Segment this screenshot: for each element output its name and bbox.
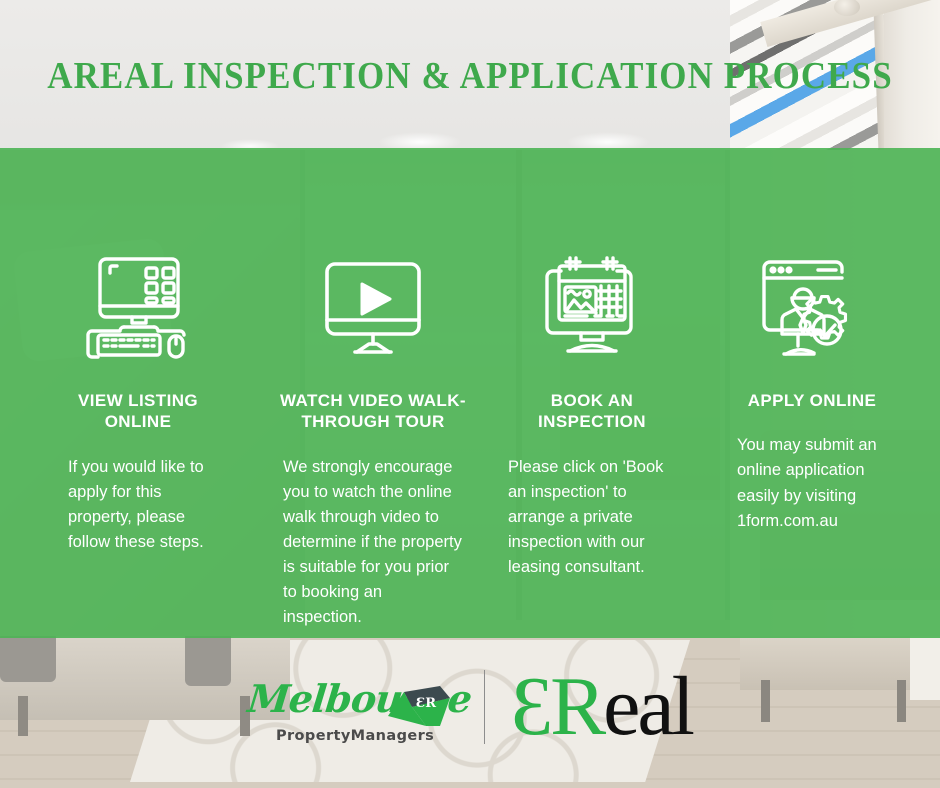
- step-body: Please click on 'Book an inspection' to …: [508, 455, 676, 580]
- roof-badge-text: ƐR: [416, 696, 436, 711]
- step-title: BOOK AN INSPECTION: [502, 390, 682, 433]
- areal-logo-black-part: eal: [603, 660, 692, 753]
- step-body: We strongly encourage you to watch the o…: [283, 455, 463, 631]
- roof-badge-icon: ƐR: [378, 682, 450, 730]
- step-body: You may submit an online application eas…: [737, 433, 887, 533]
- melbourne-property-managers-logo[interactable]: Melbourne ƐR PropertyManagers: [248, 662, 458, 752]
- process-steps-row: VIEW LISTING ONLINE If you would like to…: [0, 248, 940, 630]
- step-title: WATCH VIDEO WALK-THROUGH TOUR: [273, 390, 473, 433]
- monitor-calendar-booking-icon: [537, 248, 647, 368]
- process-step-view-listing: VIEW LISTING ONLINE If you would like to…: [18, 248, 258, 555]
- property-managers-text: PropertyManagers: [276, 728, 434, 744]
- logo-divider: [484, 670, 485, 744]
- step-body: If you would like to apply for this prop…: [68, 455, 208, 555]
- step-title: APPLY ONLINE: [732, 390, 892, 411]
- monitor-play-video-icon: [319, 248, 427, 368]
- process-step-apply-online: APPLY ONLINE You may submit an online ap…: [712, 248, 912, 534]
- page-title: AREAL INSPECTION & APPLICATION PROCESS: [38, 54, 903, 98]
- process-step-book-inspection: BOOK AN INSPECTION Please click on 'Book…: [492, 248, 692, 580]
- areal-logo-green-part: ƐR: [511, 660, 603, 753]
- process-step-watch-video: WATCH VIDEO WALK-THROUGH TOUR We strongl…: [268, 248, 478, 630]
- areal-logo[interactable]: ƐReal: [511, 665, 692, 749]
- footer-logo-row: Melbourne ƐR PropertyManagers ƐReal: [0, 662, 940, 752]
- desktop-monitor-listing-icon: [84, 248, 192, 368]
- monitor-user-gear-check-icon: [756, 248, 868, 368]
- inspection-application-process-infographic: AREAL INSPECTION & APPLICATION PROCESS: [0, 0, 940, 788]
- step-title: VIEW LISTING ONLINE: [43, 390, 233, 433]
